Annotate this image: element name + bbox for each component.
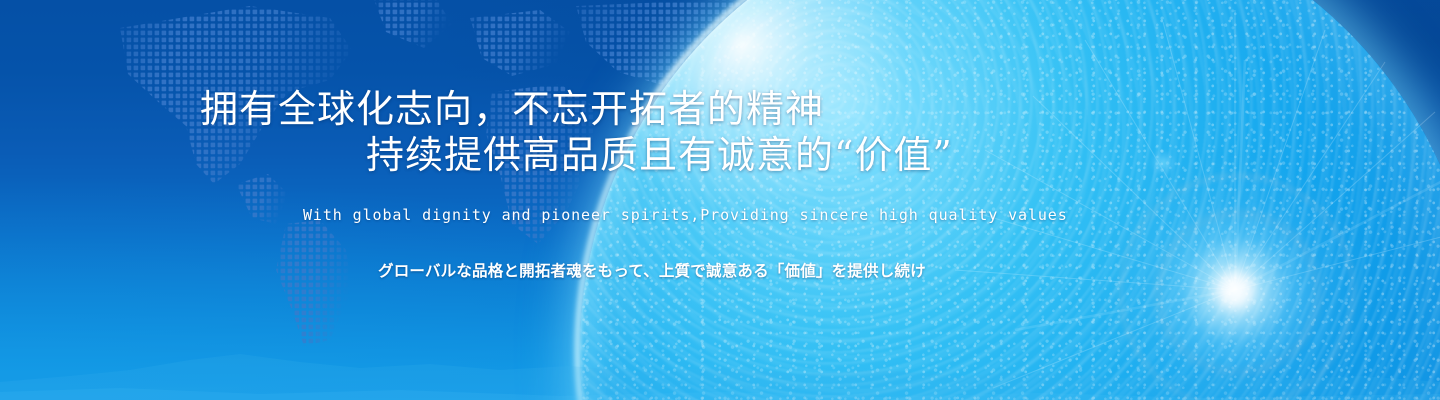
glowing-planet	[580, 0, 1440, 400]
sun-core-glow	[1085, 140, 1385, 400]
hero-copy: 拥有全球化志向，不忘开拓者的精神 持续提供高品质且有诚意的“价值” With g…	[0, 0, 1160, 400]
sun-rays-icon	[915, 0, 1440, 400]
planet-cloud-bands	[580, 0, 1440, 400]
mountain-ridge-silhouette	[0, 340, 1440, 400]
hero-banner: 拥有全球化志向，不忘开拓者的精神 持续提供高品质且有诚意的“价值” With g…	[0, 0, 1440, 400]
sun-halo-inner	[1157, 212, 1319, 374]
subtitle-english: With global dignity and pioneer spirits,…	[303, 206, 1068, 224]
planet-surface-texture	[580, 0, 1440, 400]
headline-line-1: 拥有全球化志向，不忘开拓者的精神	[0, 86, 1010, 132]
headline: 拥有全球化志向，不忘开拓者的精神 持续提供高品质且有诚意的“价值”	[0, 86, 1010, 178]
lens-flare-dot	[1150, 150, 1176, 176]
subtitle-japanese: グローバルな品格と開拓者魂をもって、上質で誠意ある「価値」を提供し続け	[378, 259, 926, 281]
planet-atmosphere-glow	[476, 0, 1440, 400]
planet-bright-rim	[467, 0, 1440, 400]
dot-matrix-world-map	[0, 0, 1010, 348]
headline-line-2: 持续提供高品质且有诚意的“价值”	[0, 132, 1010, 178]
planet-body	[580, 0, 1440, 400]
sun-halo-outer	[1120, 175, 1354, 400]
background-light-wash	[0, 0, 1440, 400]
